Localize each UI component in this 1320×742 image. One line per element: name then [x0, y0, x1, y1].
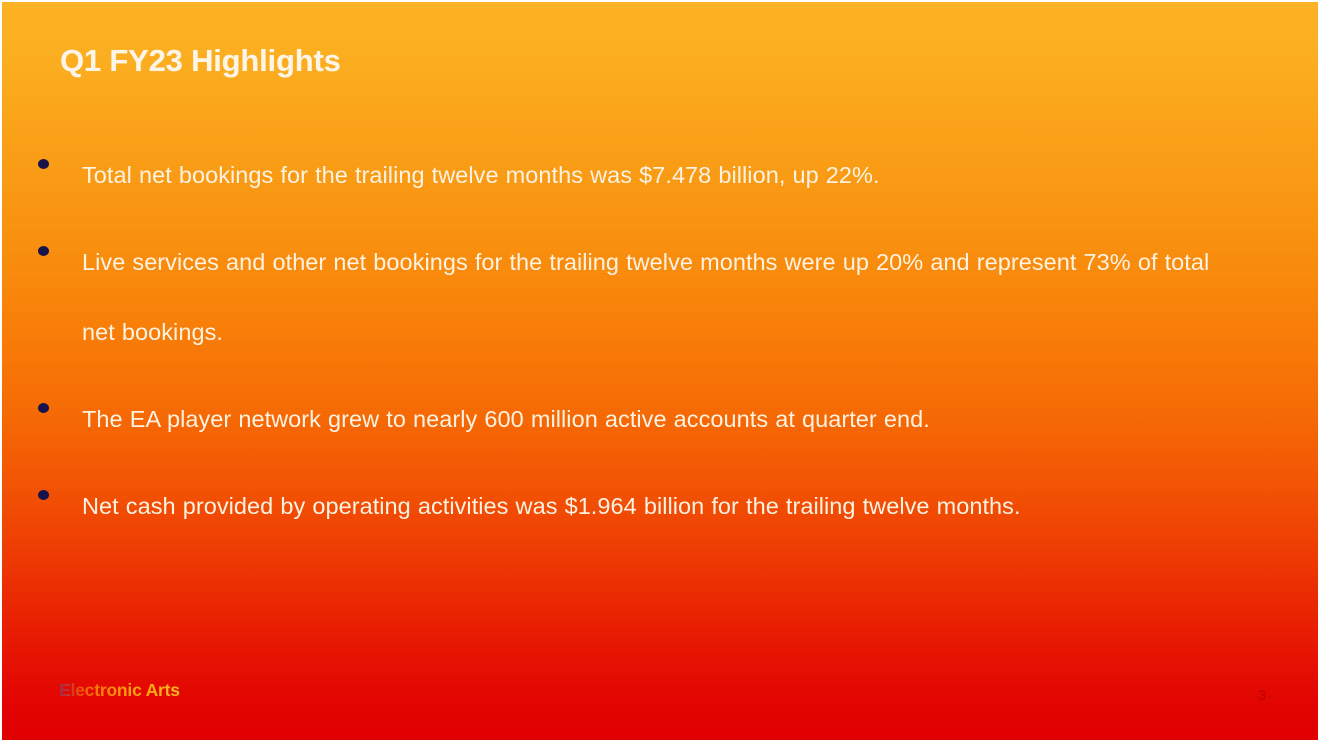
highlights-bullet-list: Total net bookings for the trailing twel…	[2, 140, 1262, 612]
bullet-text-net-bookings: Total net bookings for the trailing twel…	[82, 140, 1222, 210]
bullet-dot-icon	[38, 403, 49, 413]
page-title: Q1 FY23 Highlights	[60, 42, 341, 79]
list-item: Net cash provided by operating activitie…	[2, 471, 1262, 595]
bullet-text-operating-cash: Net cash provided by operating activitie…	[82, 471, 1222, 541]
list-item: Live services and other net bookings for…	[2, 227, 1262, 367]
list-item: The EA player network grew to nearly 600…	[2, 384, 1262, 454]
bullet-text-player-network: The EA player network grew to nearly 600…	[82, 384, 1222, 454]
bullet-text-live-services: Live services and other net bookings for…	[82, 227, 1222, 367]
bullet-dot-icon	[38, 159, 49, 169]
bullet-dot-icon	[38, 246, 49, 256]
page-number: 3	[1258, 686, 1266, 704]
electronic-arts-logo: Electronic Arts	[59, 678, 180, 702]
bullet-dot-icon	[38, 490, 49, 500]
presentation-slide: Q1 FY23 Highlights Total net bookings fo…	[0, 0, 1320, 742]
list-item: Total net bookings for the trailing twel…	[2, 140, 1262, 210]
